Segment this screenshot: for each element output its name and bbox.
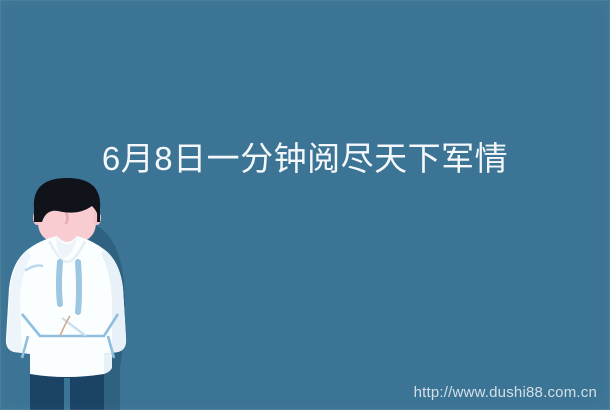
image-canvas: 6月8日一分钟阅尽天下军情 http://www.dushi88.com.cn [0,0,610,410]
watermark-url: http://www.dushi88.com.cn [414,384,597,402]
page-title: 6月8日一分钟阅尽天下军情 [0,137,610,181]
character-illustration [0,178,150,410]
